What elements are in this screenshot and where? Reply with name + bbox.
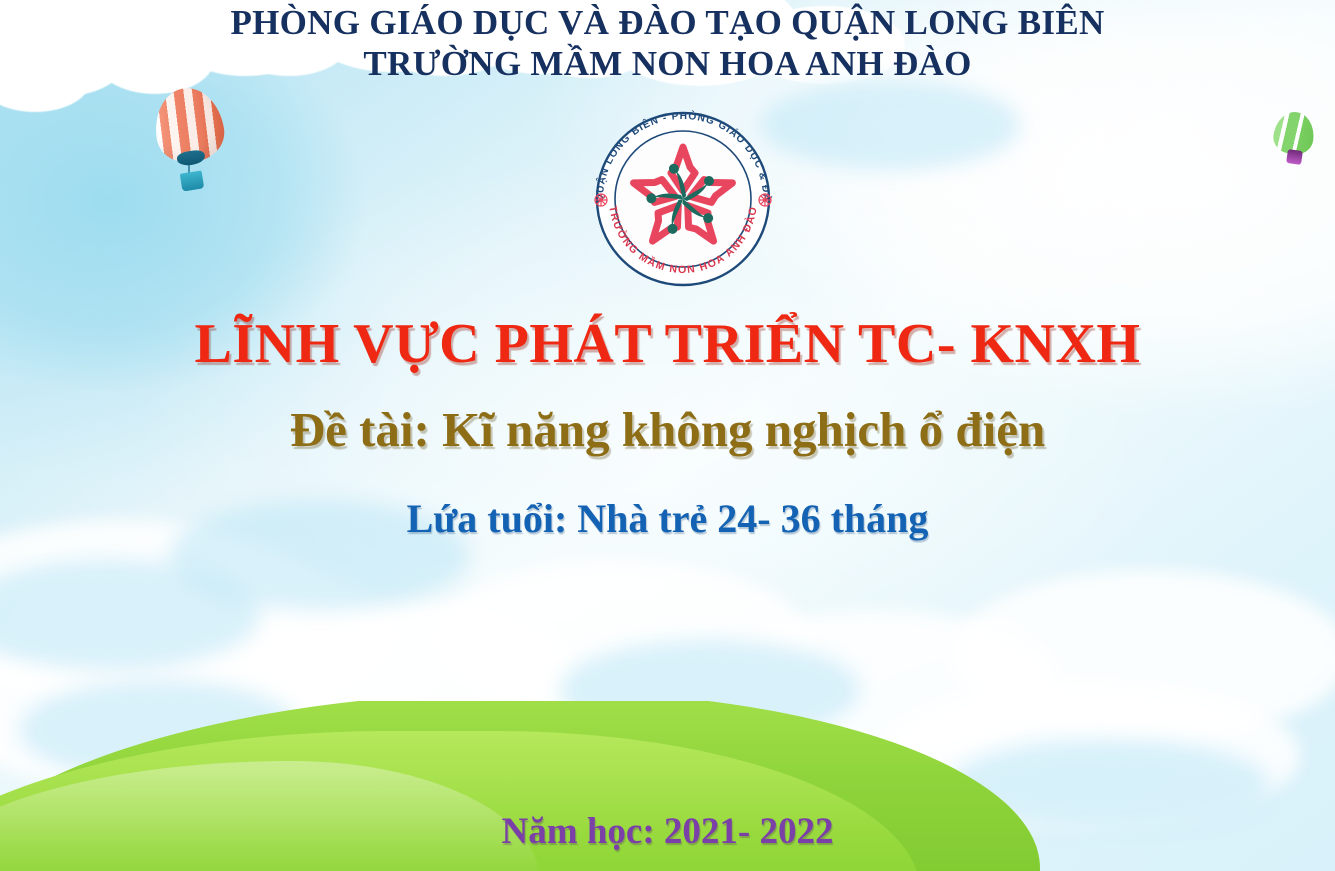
slide-age-group: Lứa tuổi: Nhà trẻ 24- 36 tháng bbox=[0, 498, 1335, 540]
department-name: PHÒNG GIÁO DỤC VÀ ĐÀO TẠO QUẬN LONG BIÊN bbox=[0, 2, 1335, 43]
hot-air-balloon-icon bbox=[1274, 112, 1320, 176]
slide-topic: Đề tài: Kĩ năng không nghịch ổ điện bbox=[0, 404, 1335, 455]
school-name: TRƯỜNG MẦM NON HOA ANH ĐÀO bbox=[0, 43, 1335, 84]
header: PHÒNG GIÁO DỤC VÀ ĐÀO TẠO QUẬN LONG BIÊN… bbox=[0, 2, 1335, 85]
hot-air-balloon-icon bbox=[155, 88, 223, 198]
cloud-shade bbox=[760, 80, 1020, 170]
presentation-slide: PHÒNG GIÁO DỤC VÀ ĐÀO TẠO QUẬN LONG BIÊN… bbox=[0, 0, 1335, 871]
school-logo: UBND QUẬN LONG BIÊN - PHÒNG GIÁO DỤC & Đ… bbox=[572, 103, 794, 289]
slide-title: LĨNH VỰC PHÁT TRIỂN TC- KNXH bbox=[0, 315, 1335, 374]
slide-school-year: Năm học: 2021- 2022 bbox=[0, 813, 1335, 852]
